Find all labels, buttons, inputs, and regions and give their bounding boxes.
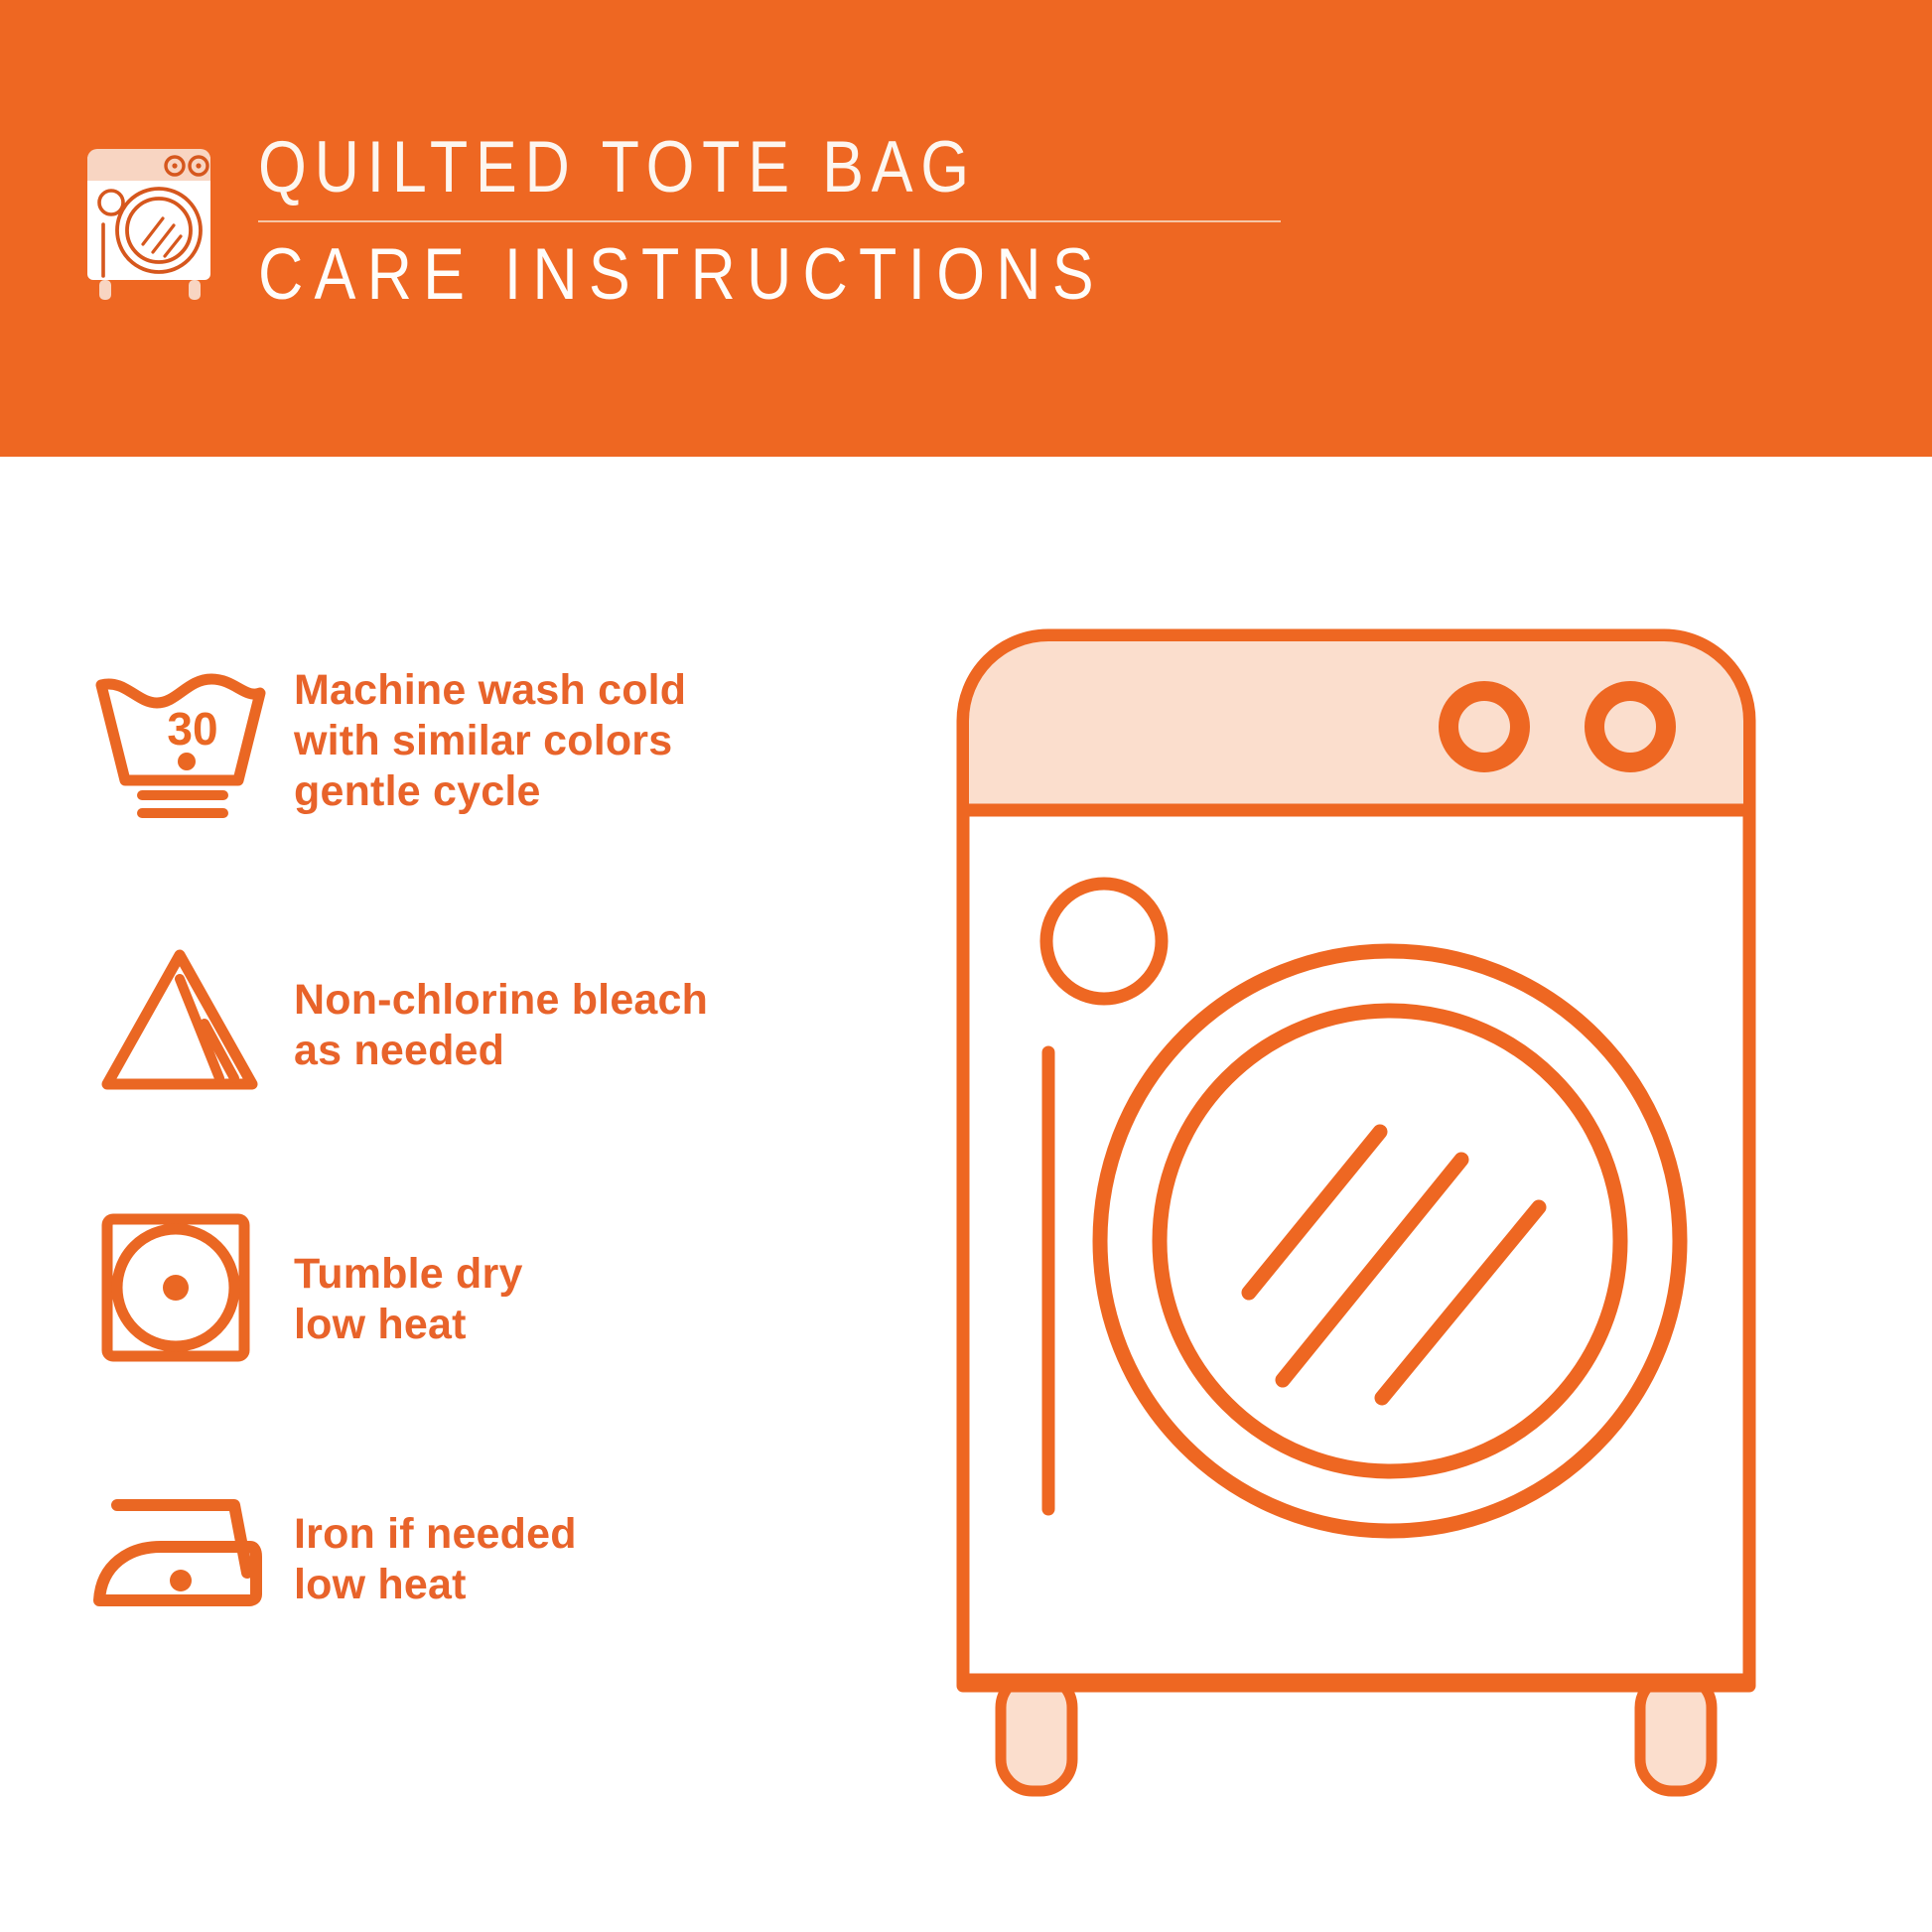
- care-row-tumble-dry: Tumble dry low heat: [85, 1207, 929, 1366]
- header-banner: QUILTED TOTE BAG CARE INSTRUCTIONS: [0, 0, 1932, 457]
- page-subtitle: CARE INSTRUCTIONS: [258, 234, 1138, 316]
- header-titles: QUILTED TOTE BAG CARE INSTRUCTIONS: [258, 127, 1281, 316]
- care-label-bleach: Non-chlorine bleach as needed: [294, 939, 708, 1076]
- care-row-bleach: Non-chlorine bleach as needed: [85, 939, 929, 1098]
- title-divider: [258, 220, 1281, 222]
- care-row-machine-wash: 30 Machine wash cold with similar colors…: [85, 663, 929, 822]
- washing-machine-illustration: [953, 625, 1866, 1807]
- tumble-dry-low-heat-icon: [85, 1207, 294, 1366]
- page-title: QUILTED TOTE BAG: [258, 129, 1138, 207]
- machine-legs: [1001, 1676, 1712, 1791]
- iron-low-heat-icon: [85, 1469, 294, 1628]
- washing-machine-icon: [77, 127, 226, 304]
- non-chlorine-bleach-triangle-icon: [85, 939, 294, 1098]
- care-row-iron: Iron if needed low heat: [85, 1469, 929, 1628]
- care-label-tumble-dry: Tumble dry low heat: [294, 1207, 523, 1350]
- care-label-machine-wash: Machine wash cold with similar colors ge…: [294, 663, 686, 817]
- care-instructions-poster: QUILTED TOTE BAG CARE INSTRUCTIONS 30: [0, 0, 1932, 1932]
- svg-text:30: 30: [167, 703, 217, 755]
- header-content: QUILTED TOTE BAG CARE INSTRUCTIONS: [77, 127, 1281, 316]
- wash-tub-30-gentle-icon: 30: [85, 663, 294, 822]
- care-label-iron: Iron if needed low heat: [294, 1469, 577, 1610]
